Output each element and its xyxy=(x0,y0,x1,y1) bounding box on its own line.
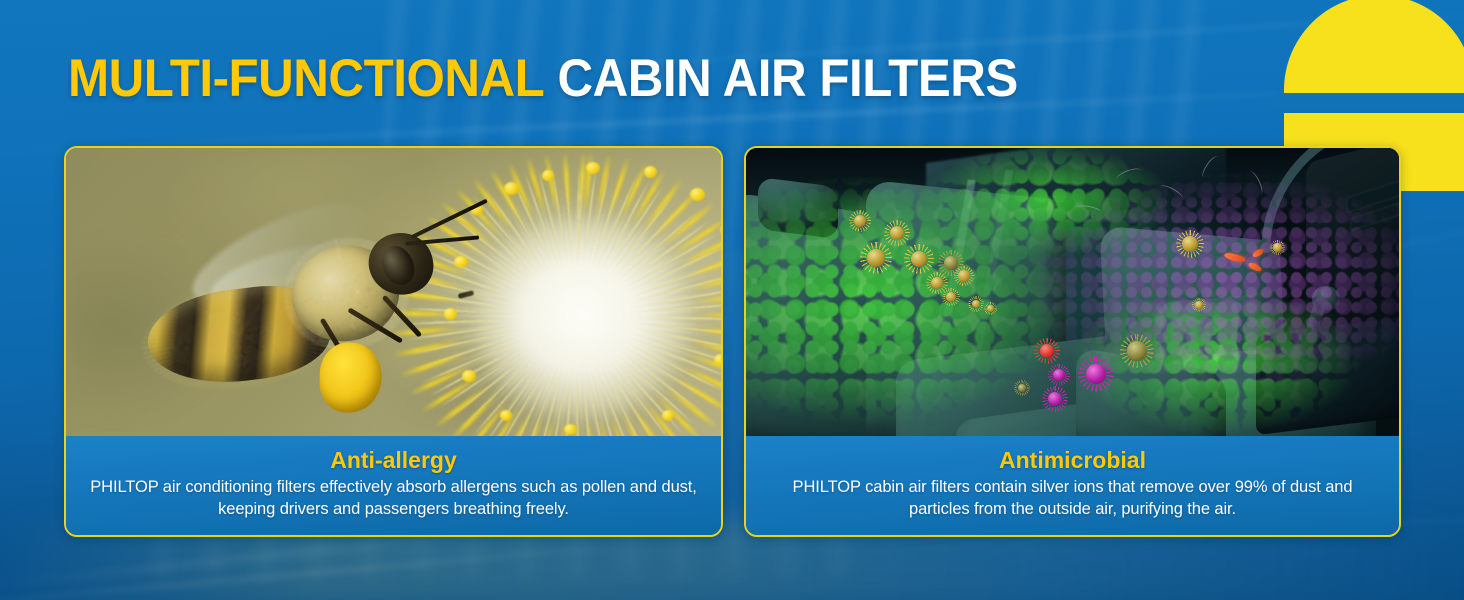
pollen-anther-dot xyxy=(714,354,721,366)
virus-particle xyxy=(968,296,984,312)
pollen-anther-dot xyxy=(542,170,554,181)
virus-particle xyxy=(1078,356,1114,392)
page-title-rest xyxy=(544,49,557,108)
pollen-anther-dot xyxy=(454,256,468,268)
banner-root: MULTI-FUNCTIONAL CABIN AIR FILTERS xyxy=(0,0,1464,600)
virus-particle xyxy=(904,244,934,274)
pollen-anther-dot xyxy=(462,370,476,382)
page-title-rest-text: CABIN AIR FILTERS xyxy=(557,49,1017,108)
card-body-text: PHILTOP air conditioning filters effecti… xyxy=(82,477,705,521)
caption-anti-allergy: Anti-allergy PHILTOP air conditioning fi… xyxy=(66,436,721,535)
virus-core xyxy=(1127,341,1146,360)
page-title: MULTI-FUNCTIONAL CABIN AIR FILTERS xyxy=(68,52,1018,105)
caption-antimicrobial: Antimicrobial PHILTOP cabin air filters … xyxy=(746,436,1399,535)
virus-particle xyxy=(1176,230,1204,258)
honeybee-pollen-flower-photo xyxy=(66,148,721,440)
pollen-anther-dot xyxy=(690,188,705,201)
virus-particle xyxy=(849,210,871,232)
virus-particle xyxy=(984,302,997,315)
virus-core xyxy=(958,270,969,281)
card-body-text: PHILTOP cabin air filters contain silver… xyxy=(762,477,1383,521)
virus-particle xyxy=(954,266,974,286)
card-title: Anti-allergy xyxy=(82,447,705,474)
virus-core xyxy=(1273,243,1281,251)
virus-particle xyxy=(1270,240,1285,255)
yellow-dome-baseline-mask xyxy=(1276,93,1464,113)
pollen-anther-dot xyxy=(662,410,674,421)
virus-particle xyxy=(942,288,960,306)
virus-core xyxy=(1195,301,1203,309)
feature-card-antimicrobial[interactable]: Antimicrobial PHILTOP cabin air filters … xyxy=(744,146,1401,537)
virus-core xyxy=(1182,236,1198,252)
pollen-anther-dot xyxy=(500,410,512,421)
virus-core xyxy=(946,292,956,302)
car-interior-microbes-photo xyxy=(746,148,1399,440)
page-title-highlight: MULTI-FUNCTIONAL xyxy=(68,49,544,108)
pollen-anther-dot xyxy=(586,162,600,174)
purple-dust-particles xyxy=(746,148,1399,440)
virus-particle xyxy=(1120,334,1154,368)
virus-particle xyxy=(1042,386,1068,412)
virus-particle xyxy=(860,242,892,274)
virus-particle xyxy=(884,220,910,246)
virus-particle xyxy=(1034,338,1060,364)
virus-core xyxy=(1086,364,1106,384)
pollen-anther-dot xyxy=(644,166,657,178)
pollen-anther-dot xyxy=(504,182,519,195)
feature-card-anti-allergy[interactable]: Anti-allergy PHILTOP air conditioning fi… xyxy=(64,146,723,537)
virus-particle xyxy=(1192,298,1206,312)
card-title: Antimicrobial xyxy=(762,447,1383,474)
virus-core xyxy=(867,249,885,267)
virus-particle xyxy=(1014,380,1030,396)
pollen-anther-dot xyxy=(564,424,577,435)
virus-particle xyxy=(1048,364,1070,386)
